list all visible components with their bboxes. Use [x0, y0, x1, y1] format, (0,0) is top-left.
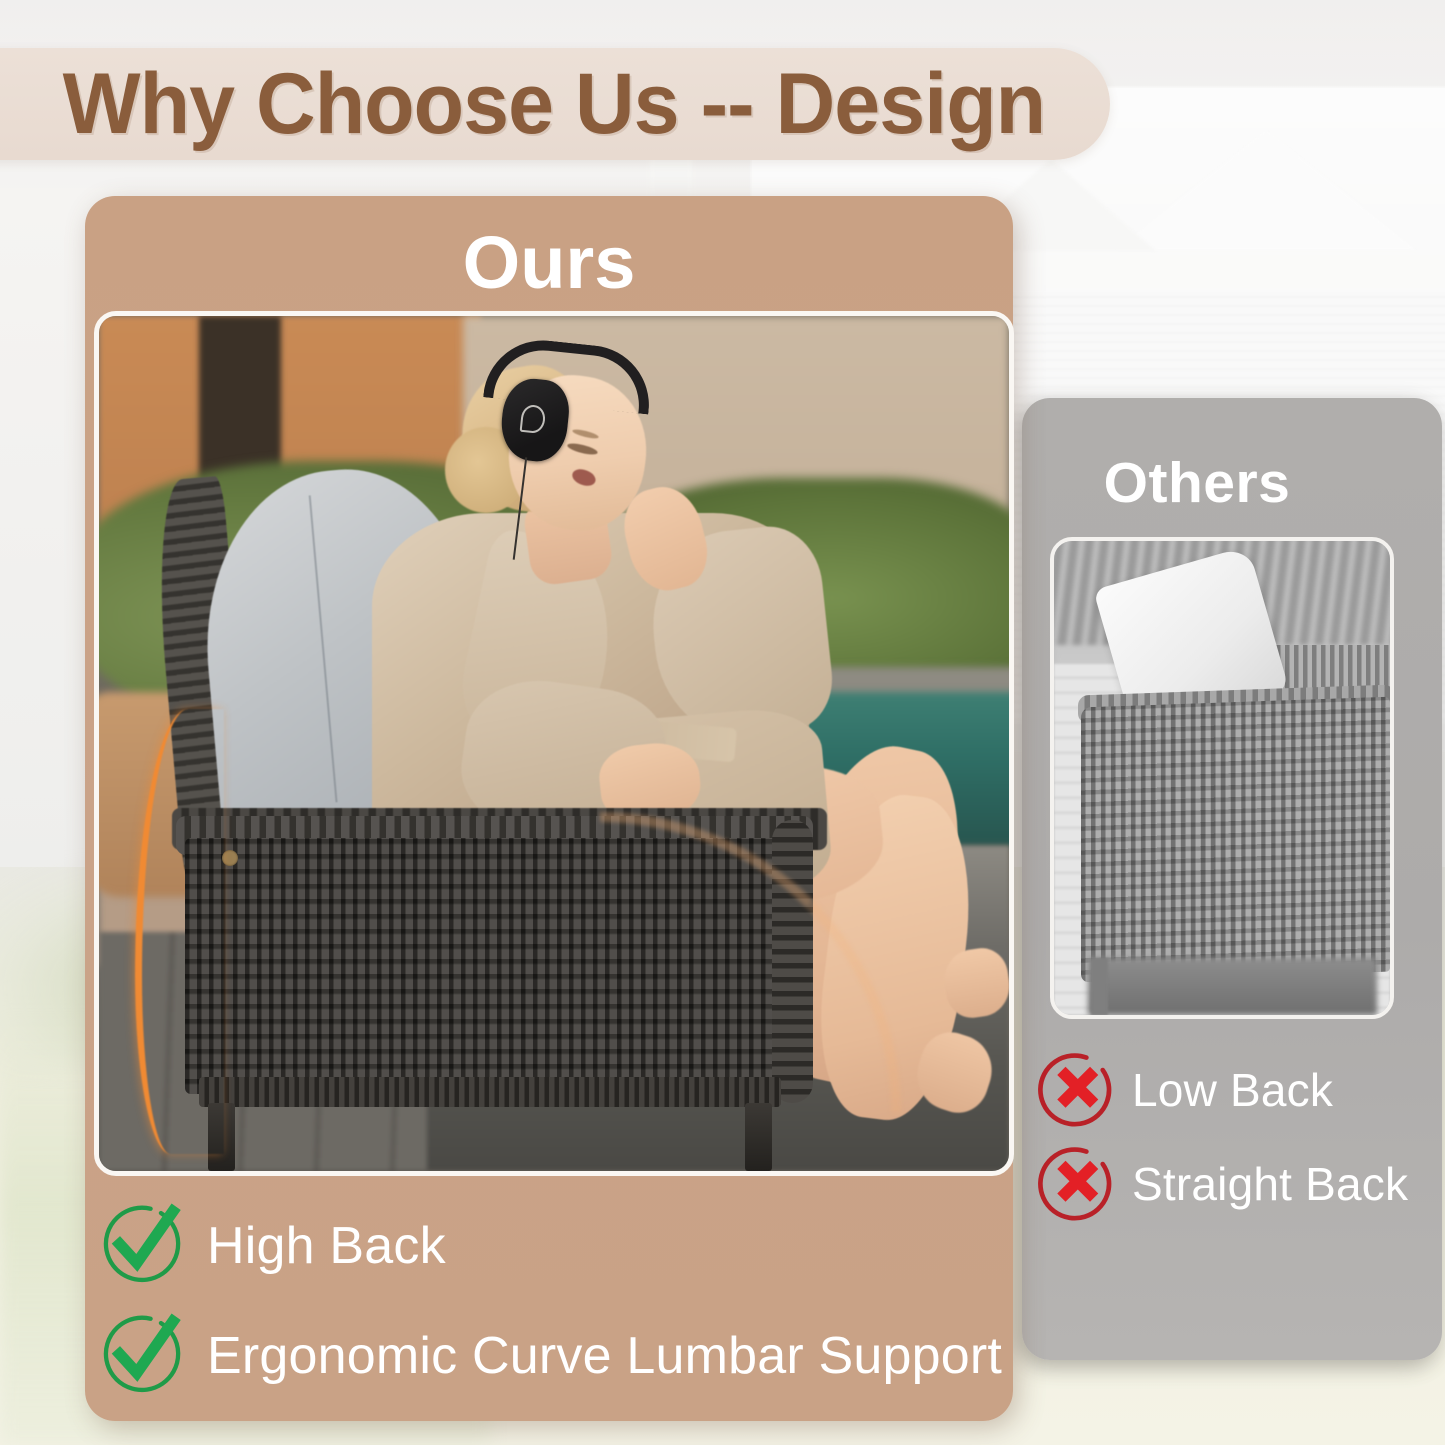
page-title-banner: Why Choose Us -- Design — [0, 48, 1110, 160]
others-feature-label: Low Back — [1132, 1063, 1333, 1117]
others-panel-title: Others — [1022, 450, 1372, 516]
background-house-gable-left — [1116, 130, 1416, 250]
cross-circle-icon — [1038, 1049, 1116, 1132]
others-product-photo — [1050, 537, 1394, 1019]
others-panel: Others Low Back — [1022, 398, 1442, 1360]
others-feature-list: Low Back Straight Back — [1038, 1043, 1445, 1231]
ours-panel: Ours — [85, 196, 1013, 1421]
check-circle-icon — [99, 1311, 185, 1402]
ours-feature-list: High Back Ergonomic Curve Lumbar Support — [99, 1191, 1027, 1411]
others-sofa-wicker-arm — [1081, 697, 1390, 983]
ours-panel-title: Ours — [85, 220, 1013, 305]
others-sofa-shadow — [1088, 958, 1377, 1015]
ours-feature-item: Ergonomic Curve Lumbar Support — [99, 1301, 1027, 1411]
ours-feature-label: Ergonomic Curve Lumbar Support — [207, 1326, 1002, 1386]
ours-product-photo — [94, 311, 1014, 1176]
ours-feature-label: High Back — [207, 1216, 446, 1276]
others-feature-item: Low Back — [1038, 1043, 1445, 1137]
others-feature-item: Straight Back — [1038, 1137, 1445, 1231]
others-sofa-leg — [1091, 958, 1108, 1015]
chair-leg-right — [745, 1103, 772, 1171]
ours-feature-item: High Back — [99, 1191, 1027, 1301]
page-title: Why Choose Us -- Design — [25, 61, 1046, 147]
others-feature-label: Straight Back — [1132, 1157, 1408, 1211]
check-circle-icon — [99, 1201, 185, 1292]
cross-circle-icon — [1038, 1143, 1116, 1226]
